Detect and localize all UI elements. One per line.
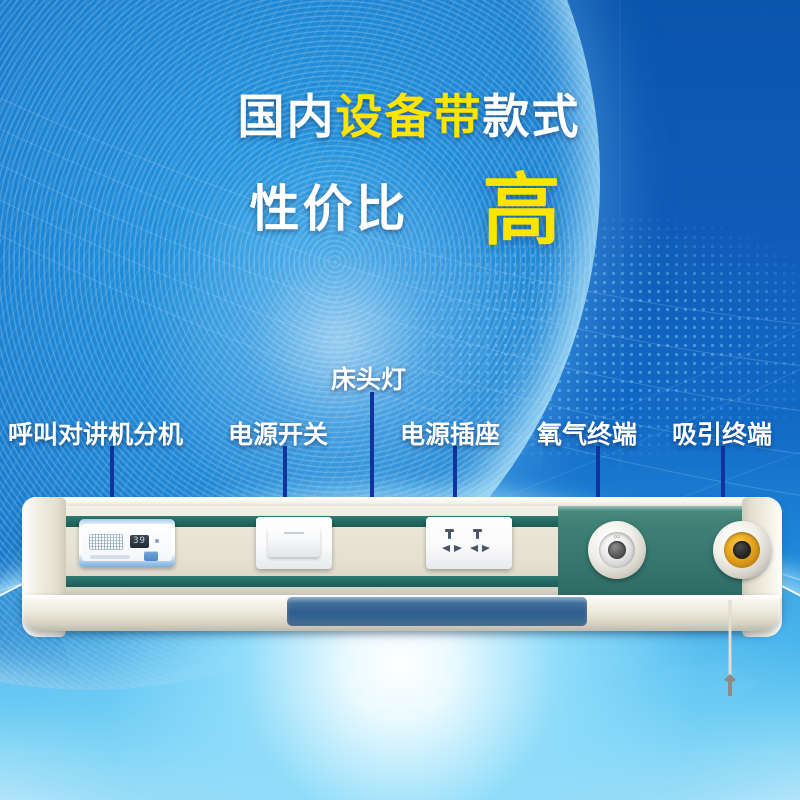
oxygen-port[interactable] [608,541,626,559]
speaker-grille-icon [89,534,123,550]
suction-port[interactable] [733,541,751,559]
oxygen-ring-label: O2 [600,534,634,539]
oxygen-terminal[interactable]: O2 [588,521,646,579]
callout-label-group: 呼叫对讲机分机 电源开关 床头灯 电源插座 氧气终端 吸引终端 [0,0,800,800]
callout-label-bed-lamp: 床头灯 [331,360,406,396]
callout-label-power-switch: 电源开关 [228,415,328,451]
poster-canvas: 国内设备带款式 性价比 高 呼叫对讲机分机 电源开关 床头灯 电源插座 氧气终端… [0,0,800,800]
wall-rocker-switch[interactable] [256,517,332,569]
universal-power-socket[interactable] [426,517,512,569]
bed-lamp-diffuser [287,597,587,626]
intercom-display: 39 [130,535,149,548]
status-led-icon [155,539,159,543]
switch-rocker[interactable] [268,527,320,557]
callout-label-suction-outlet: 吸引终端 [672,415,772,451]
intercom-call-button[interactable] [144,551,158,561]
intercom-label-slot [90,555,130,559]
panel-top-edge [22,497,780,506]
socket-holes-icon [440,529,498,557]
callout-label-intercom: 呼叫对讲机分机 [8,415,183,451]
nurse-call-intercom[interactable]: 39 [79,519,175,567]
bed-head-unit-panel: 39 [22,497,782,637]
intercom-face: 39 [82,524,172,561]
suction-terminal[interactable] [713,521,771,579]
panel-stripe-bottom [22,576,558,587]
callout-label-power-socket: 电源插座 [400,415,500,451]
callout-label-oxygen-outlet: 氧气终端 [537,415,637,451]
lamp-pull-cord[interactable] [710,600,750,710]
